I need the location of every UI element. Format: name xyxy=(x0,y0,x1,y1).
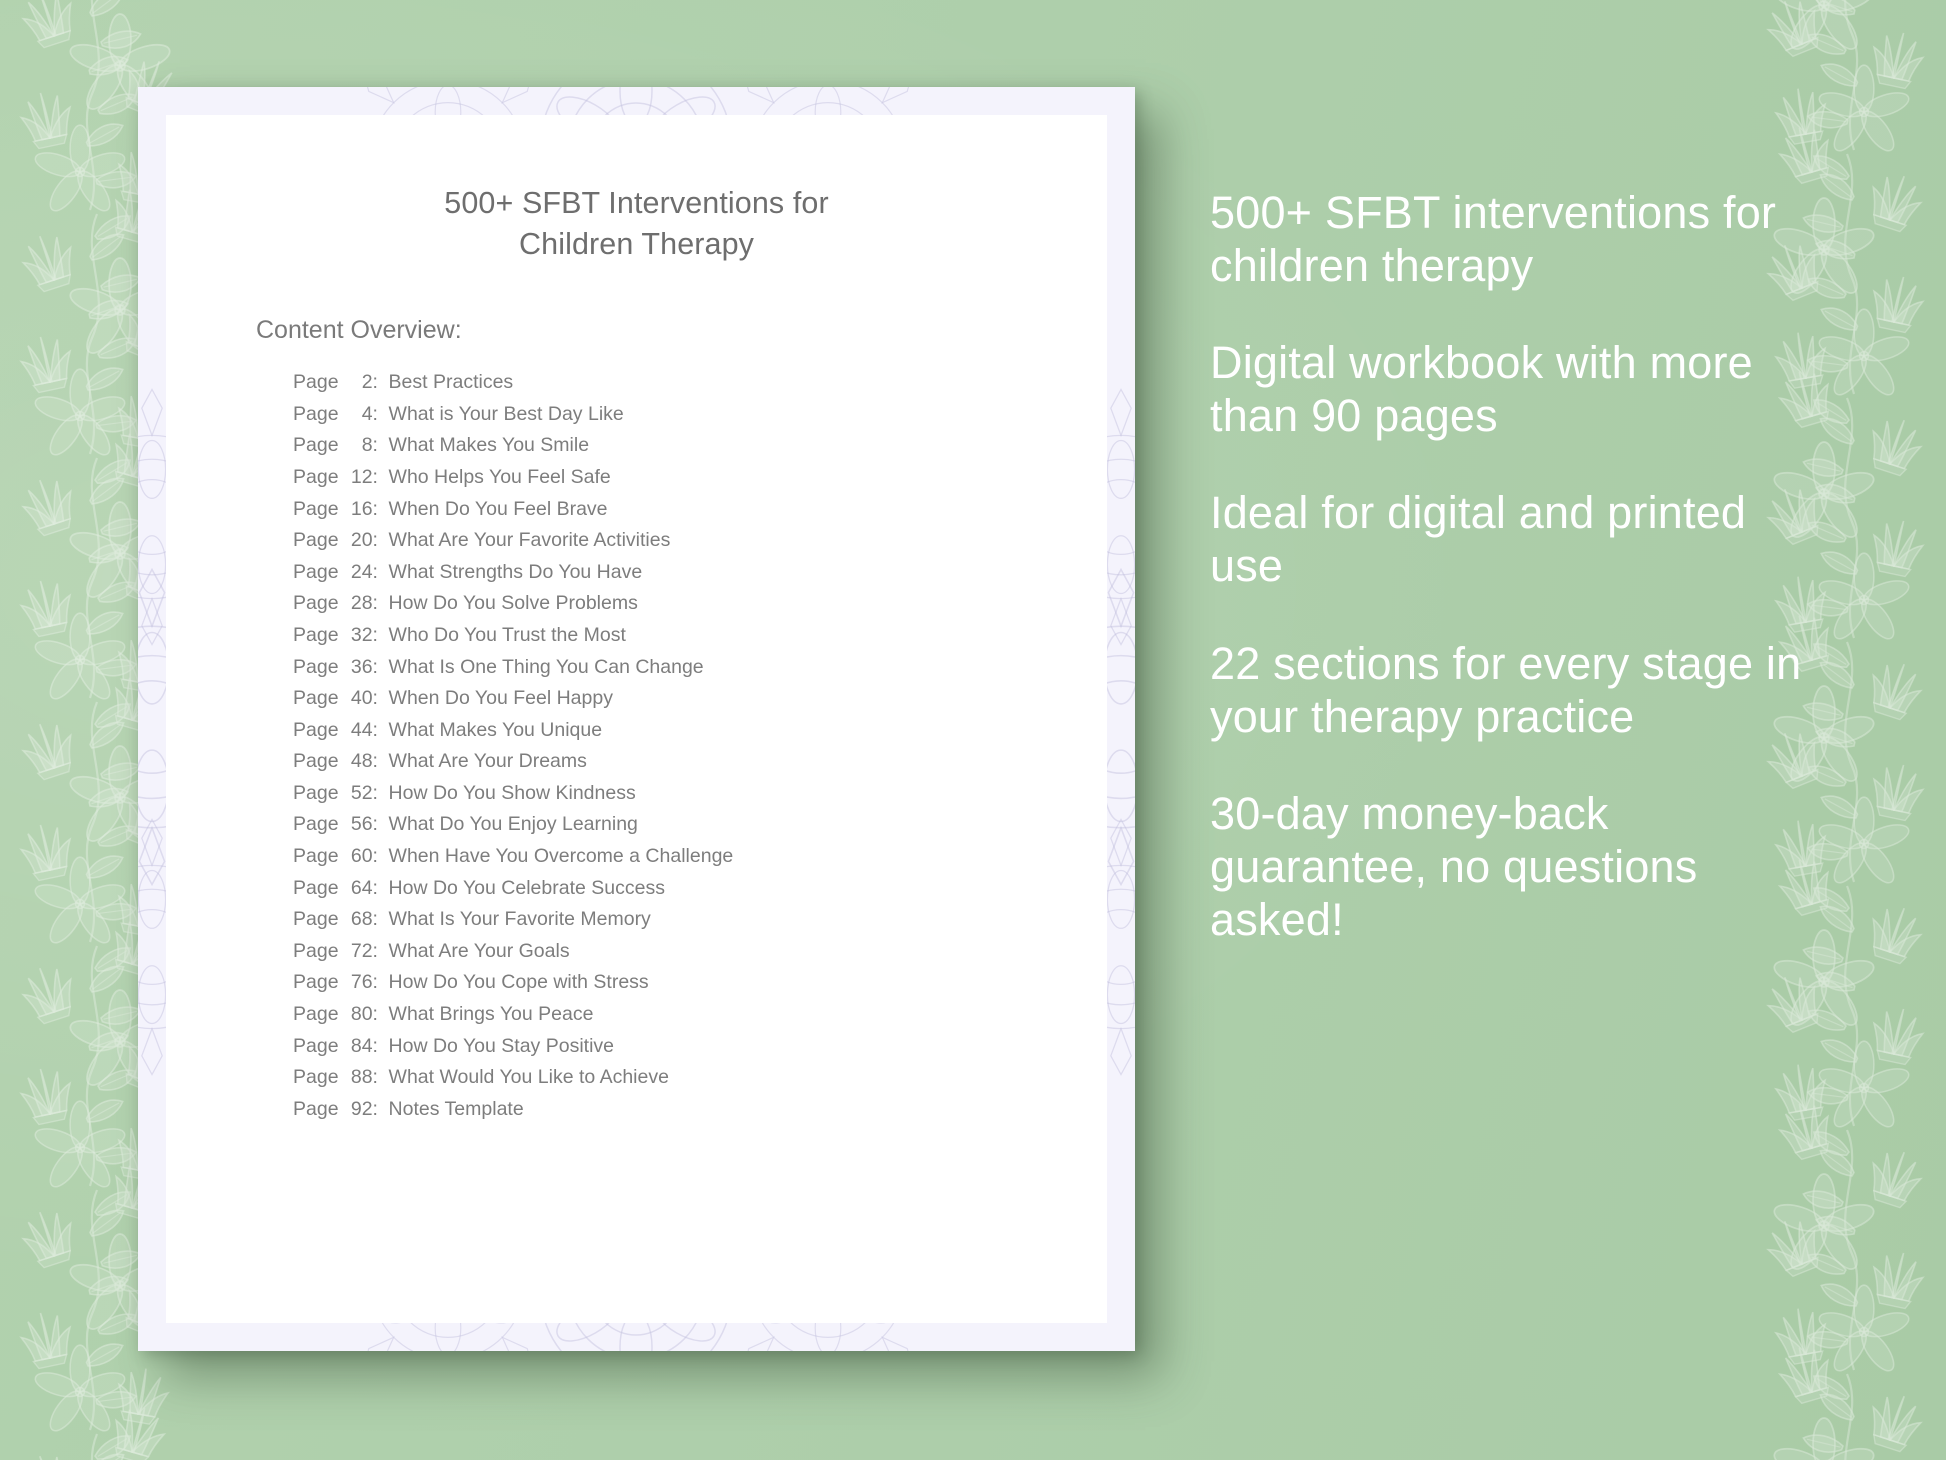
toc-colon: : xyxy=(373,721,389,741)
toc-page-number: 16 xyxy=(339,500,373,520)
toc-page-word: Page xyxy=(293,626,339,646)
toc-row: Page36:What Is One Thing You Can Change xyxy=(293,651,1107,683)
toc-page-word: Page xyxy=(293,500,339,520)
toc-colon: : xyxy=(373,847,389,867)
toc-colon: : xyxy=(373,436,389,456)
toc-entry-title: How Do You Celebrate Success xyxy=(389,879,665,899)
toc-row: Page12:Who Helps You Feel Safe xyxy=(293,462,1107,494)
toc-row: Page28:How Do You Solve Problems xyxy=(293,588,1107,620)
toc-page-number: 8 xyxy=(339,436,373,456)
toc-entry-title: What Makes You Smile xyxy=(389,436,590,456)
toc-page-number: 72 xyxy=(339,942,373,962)
toc-entry-title: What Are Your Dreams xyxy=(389,752,587,772)
toc-row: Page2:Best Practices xyxy=(293,367,1107,399)
toc-page-word: Page xyxy=(293,468,339,488)
toc-page-word: Page xyxy=(293,879,339,899)
toc-entry-title: What is Your Best Day Like xyxy=(389,405,624,425)
toc-row: Page44:What Makes You Unique xyxy=(293,715,1107,747)
toc-row: Page56:What Do You Enjoy Learning xyxy=(293,809,1107,841)
toc-entry-title: Best Practices xyxy=(389,373,514,393)
workbook-preview-card: 500+ SFBT Interventions for Children The… xyxy=(138,87,1135,1351)
toc-page-number: 52 xyxy=(339,784,373,804)
toc-colon: : xyxy=(373,563,389,583)
toc-row: Page68:What Is Your Favorite Memory xyxy=(293,904,1107,936)
toc-page-number: 48 xyxy=(339,752,373,772)
toc-entry-title: When Have You Overcome a Challenge xyxy=(389,847,734,867)
toc-colon: : xyxy=(373,1068,389,1088)
toc-entry-title: What Brings You Peace xyxy=(389,1005,594,1025)
toc-page-word: Page xyxy=(293,847,339,867)
toc-page-number: 64 xyxy=(339,879,373,899)
toc-page-number: 44 xyxy=(339,721,373,741)
toc-row: Page72:What Are Your Goals xyxy=(293,936,1107,968)
toc-page-word: Page xyxy=(293,405,339,425)
toc-entry-title: What Are Your Favorite Activities xyxy=(389,531,671,551)
toc-page-number: 36 xyxy=(339,658,373,678)
toc-page-number: 20 xyxy=(339,531,373,551)
toc-entry-title: Notes Template xyxy=(389,1100,524,1120)
toc-row: Page4:What is Your Best Day Like xyxy=(293,399,1107,431)
toc-page-word: Page xyxy=(293,689,339,709)
toc-row: Page40:When Do You Feel Happy xyxy=(293,683,1107,715)
toc-page-number: 80 xyxy=(339,1005,373,1025)
toc-page-word: Page xyxy=(293,910,339,930)
toc-colon: : xyxy=(373,373,389,393)
toc-page-number: 60 xyxy=(339,847,373,867)
workbook-page: 500+ SFBT Interventions for Children The… xyxy=(166,115,1107,1323)
toc-page-word: Page xyxy=(293,784,339,804)
toc-page-number: 28 xyxy=(339,594,373,614)
toc-colon: : xyxy=(373,658,389,678)
toc-entry-title: What Are Your Goals xyxy=(389,942,570,962)
toc-row: Page60:When Have You Overcome a Challeng… xyxy=(293,841,1107,873)
toc-colon: : xyxy=(373,942,389,962)
toc-entry-title: Who Helps You Feel Safe xyxy=(389,468,611,488)
toc-page-word: Page xyxy=(293,1100,339,1120)
toc-page-number: 32 xyxy=(339,626,373,646)
toc-row: Page24:What Strengths Do You Have xyxy=(293,557,1107,589)
toc-entry-title: When Do You Feel Happy xyxy=(389,689,613,709)
toc-entry-title: What Makes You Unique xyxy=(389,721,603,741)
toc-colon: : xyxy=(373,973,389,993)
toc-page-number: 40 xyxy=(339,689,373,709)
toc-page-number: 84 xyxy=(339,1037,373,1057)
marketing-bullet: 500+ SFBT interventions for children the… xyxy=(1210,186,1810,292)
toc-entry-title: How Do You Cope with Stress xyxy=(389,973,649,993)
toc-page-number: 56 xyxy=(339,815,373,835)
toc-entry-title: What Is Your Favorite Memory xyxy=(389,910,651,930)
toc-entry-title: What Strengths Do You Have xyxy=(389,563,643,583)
marketing-bullet: 22 sections for every stage in your ther… xyxy=(1210,637,1810,743)
toc-page-word: Page xyxy=(293,752,339,772)
toc-page-number: 92 xyxy=(339,1100,373,1120)
toc-entry-title: How Do You Stay Positive xyxy=(389,1037,614,1057)
toc-row: Page20:What Are Your Favorite Activities xyxy=(293,525,1107,557)
toc-colon: : xyxy=(373,910,389,930)
toc-colon: : xyxy=(373,1037,389,1057)
content-overview-label: Content Overview: xyxy=(166,316,1107,345)
toc-row: Page8:What Makes You Smile xyxy=(293,430,1107,462)
toc-row: Page52:How Do You Show Kindness xyxy=(293,778,1107,810)
toc-page-word: Page xyxy=(293,1037,339,1057)
toc-page-word: Page xyxy=(293,1068,339,1088)
toc-page-word: Page xyxy=(293,373,339,393)
toc-colon: : xyxy=(373,752,389,772)
toc-colon: : xyxy=(373,815,389,835)
toc-page-number: 68 xyxy=(339,910,373,930)
toc-row: Page88:What Would You Like to Achieve xyxy=(293,1062,1107,1094)
toc-page-word: Page xyxy=(293,658,339,678)
toc-colon: : xyxy=(373,405,389,425)
toc-page-word: Page xyxy=(293,942,339,962)
toc-page-number: 12 xyxy=(339,468,373,488)
toc-page-word: Page xyxy=(293,594,339,614)
toc-row: Page48:What Are Your Dreams xyxy=(293,746,1107,778)
toc-colon: : xyxy=(373,500,389,520)
toc-row: Page16:When Do You Feel Brave xyxy=(293,494,1107,526)
toc-row: Page92:Notes Template xyxy=(293,1094,1107,1126)
toc-colon: : xyxy=(373,468,389,488)
doc-title-line-2: Children Therapy xyxy=(519,227,754,261)
toc-page-number: 76 xyxy=(339,973,373,993)
toc-entry-title: Who Do You Trust the Most xyxy=(389,626,626,646)
toc-colon: : xyxy=(373,784,389,804)
toc-colon: : xyxy=(373,594,389,614)
toc-colon: : xyxy=(373,531,389,551)
toc-colon: : xyxy=(373,1005,389,1025)
toc-page-word: Page xyxy=(293,563,339,583)
toc-entry-title: What Do You Enjoy Learning xyxy=(389,815,638,835)
toc-entry-title: What Would You Like to Achieve xyxy=(389,1068,669,1088)
marketing-bullet-list: 500+ SFBT interventions for children the… xyxy=(1210,186,1810,946)
table-of-contents: Page2:Best PracticesPage4:What is Your B… xyxy=(166,367,1107,1125)
page-title: 500+ SFBT Interventions for Children The… xyxy=(357,155,917,264)
toc-row: Page76:How Do You Cope with Stress xyxy=(293,967,1107,999)
toc-page-number: 4 xyxy=(339,405,373,425)
toc-page-word: Page xyxy=(293,531,339,551)
marketing-bullet: Ideal for digital and printed use xyxy=(1210,486,1810,592)
toc-row: Page80:What Brings You Peace xyxy=(293,999,1107,1031)
toc-page-number: 24 xyxy=(339,563,373,583)
toc-row: Page32:Who Do You Trust the Most xyxy=(293,620,1107,652)
doc-title-line-1: 500+ SFBT Interventions for xyxy=(444,186,828,220)
toc-colon: : xyxy=(373,1100,389,1120)
marketing-bullet: 30-day money-back guarantee, no question… xyxy=(1210,787,1810,946)
toc-entry-title: When Do You Feel Brave xyxy=(389,500,608,520)
toc-colon: : xyxy=(373,879,389,899)
toc-page-word: Page xyxy=(293,436,339,456)
toc-page-word: Page xyxy=(293,1005,339,1025)
toc-colon: : xyxy=(373,626,389,646)
toc-page-number: 2 xyxy=(339,373,373,393)
marketing-bullet: Digital workbook with more than 90 pages xyxy=(1210,336,1810,442)
toc-entry-title: How Do You Solve Problems xyxy=(389,594,638,614)
toc-row: Page84:How Do You Stay Positive xyxy=(293,1031,1107,1063)
toc-page-number: 88 xyxy=(339,1068,373,1088)
toc-page-word: Page xyxy=(293,973,339,993)
toc-colon: : xyxy=(373,689,389,709)
toc-page-word: Page xyxy=(293,815,339,835)
toc-entry-title: What Is One Thing You Can Change xyxy=(389,658,704,678)
toc-row: Page64:How Do You Celebrate Success xyxy=(293,873,1107,905)
toc-page-word: Page xyxy=(293,721,339,741)
toc-entry-title: How Do You Show Kindness xyxy=(389,784,636,804)
